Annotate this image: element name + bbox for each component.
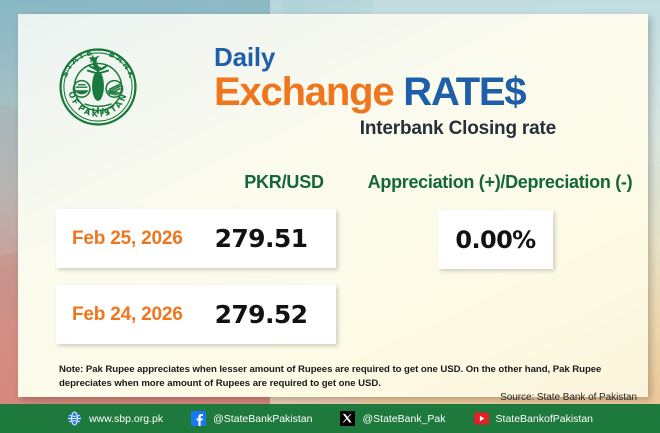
x-twitter-icon bbox=[340, 411, 355, 426]
svg-text:BANK: BANK bbox=[107, 49, 136, 80]
globe-icon bbox=[67, 411, 82, 426]
facebook-icon bbox=[191, 411, 206, 426]
footer-item-x[interactable]: @StateBank_Pak bbox=[340, 411, 445, 426]
source-text: Source: State Bank of Pakistan bbox=[59, 392, 637, 403]
title-word-exchange: Exchange bbox=[214, 70, 393, 114]
column-header-change: Appreciation (+)/Depreciation (-) bbox=[356, 172, 644, 193]
sbp-logo-icon: STATE BANK OF PAKISTAN bbox=[50, 39, 146, 135]
rate-row: Feb 25, 2026 279.51 bbox=[56, 209, 336, 268]
svg-text:STATE: STATE bbox=[60, 48, 95, 79]
change-percentage-box: 0.00% bbox=[438, 210, 553, 269]
footer-label-website: www.sbp.org.pk bbox=[89, 413, 163, 425]
content-card: STATE BANK OF PAKISTAN Daily Exchange RA… bbox=[18, 14, 648, 397]
social-footer-bar: www.sbp.org.pk @StateBankPakistan @State… bbox=[0, 404, 660, 433]
exchange-rate-poster: STATE BANK OF PAKISTAN Daily Exchange RA… bbox=[0, 0, 660, 433]
rate-value: 279.52 bbox=[204, 300, 336, 329]
footer-label-youtube: StateBankofPakistan bbox=[496, 413, 593, 425]
footer-label-x: @StateBank_Pak bbox=[362, 413, 445, 425]
rate-date: Feb 25, 2026 bbox=[56, 228, 204, 250]
footer-item-facebook[interactable]: @StateBankPakistan bbox=[191, 411, 312, 426]
rate-value: 279.51 bbox=[204, 224, 336, 253]
footer-item-website[interactable]: www.sbp.org.pk bbox=[67, 411, 163, 426]
rate-row: Feb 24, 2026 279.52 bbox=[56, 285, 336, 344]
youtube-icon bbox=[474, 411, 489, 426]
svg-text:PAKISTAN: PAKISTAN bbox=[76, 91, 129, 119]
rate-date: Feb 24, 2026 bbox=[56, 304, 204, 326]
footer-label-facebook: @StateBankPakistan bbox=[213, 413, 312, 425]
change-percentage-value: 0.00% bbox=[455, 226, 535, 254]
title-subtitle: Interbank Closing rate bbox=[214, 118, 634, 140]
title-daily: Daily bbox=[214, 44, 634, 70]
title-word-rates: RATE$ bbox=[403, 70, 525, 114]
title-block: Daily Exchange RATE$ Interbank Closing r… bbox=[214, 44, 634, 140]
title-main: Exchange RATE$ bbox=[214, 72, 634, 113]
column-header-rate: PKR/USD bbox=[214, 172, 354, 193]
footnote-text: Note: Pak Rupee appreciates when lesser … bbox=[59, 363, 637, 390]
footer-item-youtube[interactable]: StateBankofPakistan bbox=[474, 411, 593, 426]
